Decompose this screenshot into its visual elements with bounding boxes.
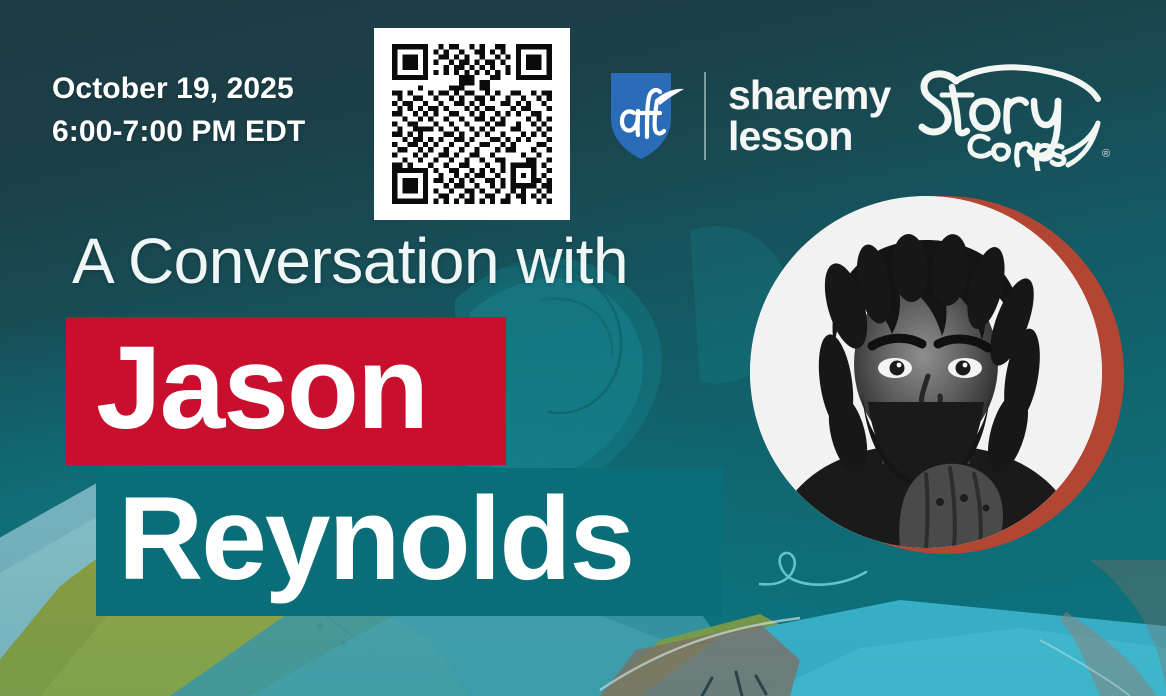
qr-code[interactable] bbox=[374, 28, 570, 220]
storycorps-logo[interactable]: ® bbox=[912, 61, 1122, 171]
sharemylesson-line2: lesson bbox=[728, 116, 890, 157]
squiggle-decoration bbox=[756, 538, 886, 608]
event-poster: October 19, 2025 6:00-7:00 PM EDT bbox=[0, 0, 1166, 696]
first-name-block: Jason bbox=[66, 317, 506, 465]
logo-lockup: sharemy lesson bbox=[608, 58, 1146, 174]
storycorps-trademark: ® bbox=[1102, 148, 1110, 160]
logo-divider bbox=[704, 72, 706, 160]
first-name-text: Jason bbox=[96, 329, 427, 447]
sharemylesson-line1: sharemy bbox=[728, 75, 890, 116]
speaker-portrait bbox=[750, 196, 1102, 548]
event-datetime: October 19, 2025 6:00-7:00 PM EDT bbox=[52, 68, 305, 153]
last-name-block: Reynolds bbox=[96, 468, 722, 616]
event-date: October 19, 2025 bbox=[52, 68, 305, 111]
event-time: 6:00-7:00 PM EDT bbox=[52, 111, 305, 154]
aft-logo[interactable] bbox=[608, 69, 686, 163]
sharemylesson-logo[interactable]: sharemy lesson bbox=[728, 75, 890, 156]
headline-intro: A Conversation with bbox=[72, 224, 628, 298]
last-name-text: Reynolds bbox=[118, 480, 633, 598]
